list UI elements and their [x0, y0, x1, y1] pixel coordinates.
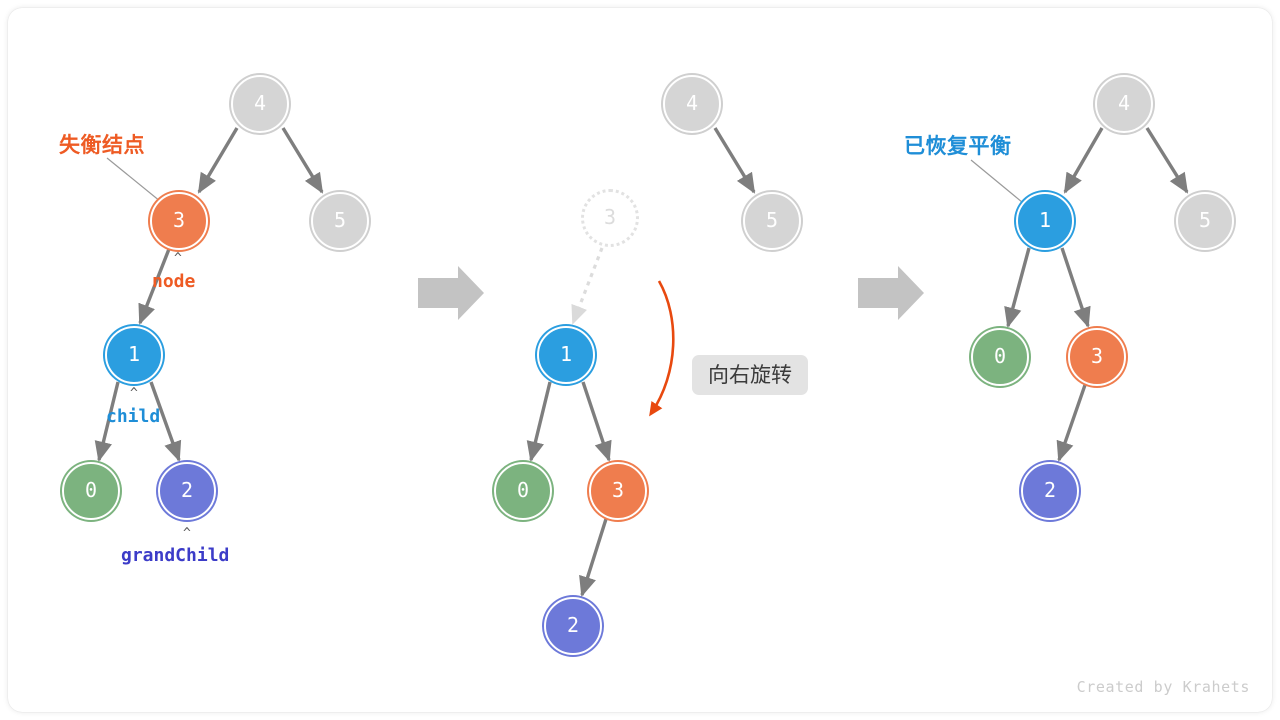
after-node-1[interactable]: 1 [1016, 192, 1074, 250]
during-node-4[interactable]: 4 [663, 75, 721, 133]
before-node-4[interactable]: 4 [231, 75, 289, 133]
node-value: 3 [604, 207, 616, 227]
node-value: 5 [334, 210, 346, 230]
edge-4-5 [715, 128, 754, 192]
node-value: 2 [567, 615, 579, 635]
node-value: 0 [994, 346, 1006, 366]
leader-unbalanced [107, 158, 166, 206]
edge-3-2 [582, 519, 606, 595]
node-value: 0 [517, 480, 529, 500]
watermark: Created by Krahets [1077, 678, 1250, 696]
before-node-5[interactable]: 5 [311, 192, 369, 250]
step-arrow-2 [858, 266, 924, 320]
node-value: 1 [128, 344, 140, 364]
after-node-3[interactable]: 3 [1068, 328, 1126, 386]
child-var-label: child [106, 406, 160, 427]
grandchild-var-label: grandChild [121, 545, 229, 566]
node-value: 1 [560, 344, 572, 364]
diagram-stage: 4 5 3 1 0 2 失衡结点 ^ node ^ child ^ grandC… [8, 8, 1272, 712]
before-node-2[interactable]: 2 [158, 462, 216, 520]
node-caret: ^ [174, 251, 182, 266]
node-var-label: node [152, 271, 195, 292]
after-node-2[interactable]: 2 [1021, 462, 1079, 520]
figure-card: 4 5 3 1 0 2 失衡结点 ^ node ^ child ^ grandC… [8, 8, 1272, 712]
after-node-4[interactable]: 4 [1095, 75, 1153, 133]
edge-4-5 [283, 128, 322, 192]
edge-1-0 [531, 382, 550, 460]
edge-3-2 [1059, 385, 1085, 460]
node-value: 4 [686, 93, 698, 113]
node-value: 5 [1199, 210, 1211, 230]
edge-4-5 [1147, 128, 1187, 192]
during-node-3-ghost: 3 [581, 189, 639, 247]
rotate-chip-label: 向右旋转 [692, 355, 808, 395]
edge-1-3 [583, 382, 609, 460]
during-node-3[interactable]: 3 [589, 462, 647, 520]
grandchild-caret: ^ [183, 526, 191, 541]
edge-ghost3-1 [573, 248, 602, 323]
node-value: 4 [1118, 93, 1130, 113]
after-node-5[interactable]: 5 [1176, 192, 1234, 250]
node-value: 1 [1039, 210, 1051, 230]
edge-1-3 [1062, 248, 1088, 326]
edge-4-3 [199, 128, 237, 192]
step-arrows [418, 266, 924, 320]
unbalanced-node-label: 失衡结点 [59, 129, 145, 159]
panel-after-edges [1008, 128, 1187, 460]
rotate-arc-arrow [652, 281, 673, 412]
child-caret: ^ [130, 386, 138, 401]
edge-4-1 [1065, 128, 1102, 192]
node-value: 3 [612, 480, 624, 500]
node-value: 4 [254, 93, 266, 113]
during-node-5[interactable]: 5 [743, 192, 801, 250]
rebalanced-label: 已恢复平衡 [904, 130, 1012, 160]
after-node-0[interactable]: 0 [971, 328, 1029, 386]
node-value: 3 [1091, 346, 1103, 366]
before-node-3[interactable]: 3 [150, 192, 208, 250]
during-node-1[interactable]: 1 [537, 326, 595, 384]
node-value: 0 [85, 480, 97, 500]
node-value: 2 [1044, 480, 1056, 500]
before-node-1[interactable]: 1 [105, 326, 163, 384]
leader-rebalanced [971, 160, 1028, 207]
edge-1-0 [1008, 248, 1029, 326]
node-value: 5 [766, 210, 778, 230]
before-node-0[interactable]: 0 [62, 462, 120, 520]
node-value: 2 [181, 480, 193, 500]
during-node-0[interactable]: 0 [494, 462, 552, 520]
step-arrow-1 [418, 266, 484, 320]
node-value: 3 [173, 210, 185, 230]
during-node-2[interactable]: 2 [544, 597, 602, 655]
